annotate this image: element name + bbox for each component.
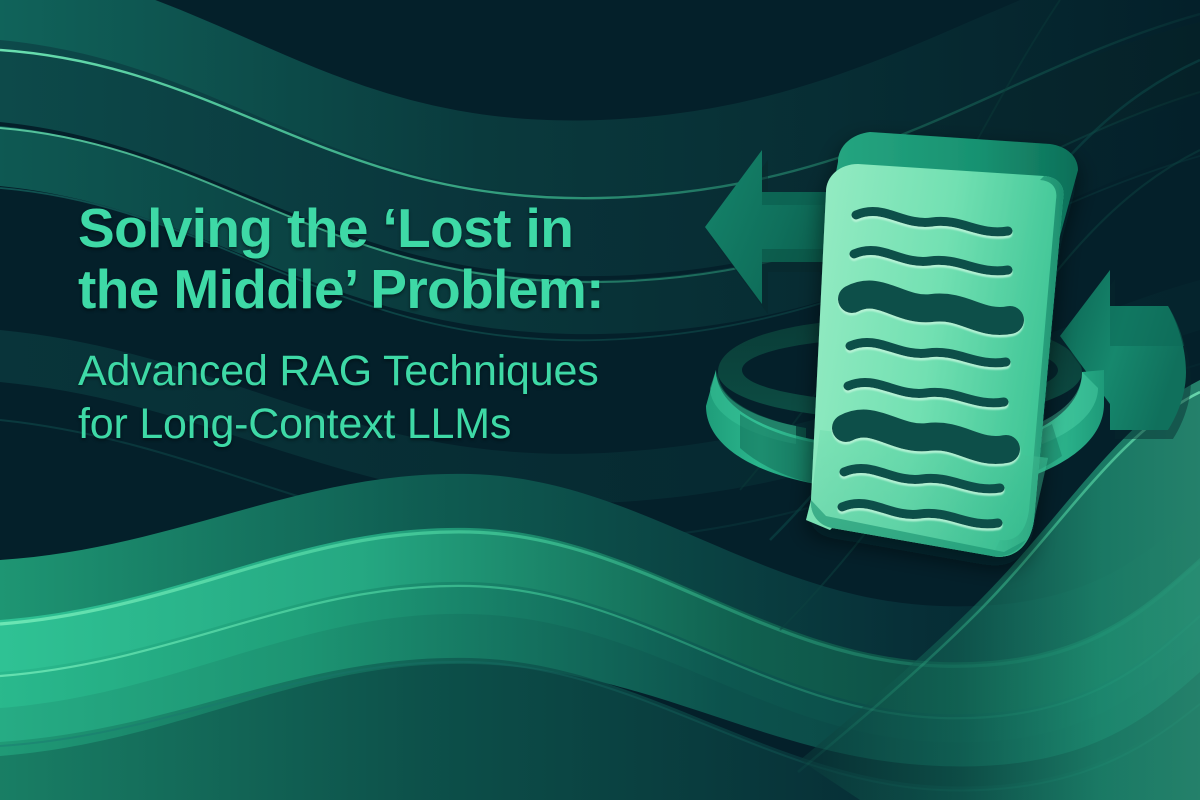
- hero-banner: Solving the ‘Lost in the Middle’ Problem…: [0, 0, 1200, 800]
- page-title: Solving the ‘Lost in the Middle’ Problem…: [78, 198, 718, 319]
- page-subtitle: Advanced RAG Techniques for Long-Context…: [78, 345, 718, 451]
- headline-block: Solving the ‘Lost in the Middle’ Problem…: [78, 198, 718, 451]
